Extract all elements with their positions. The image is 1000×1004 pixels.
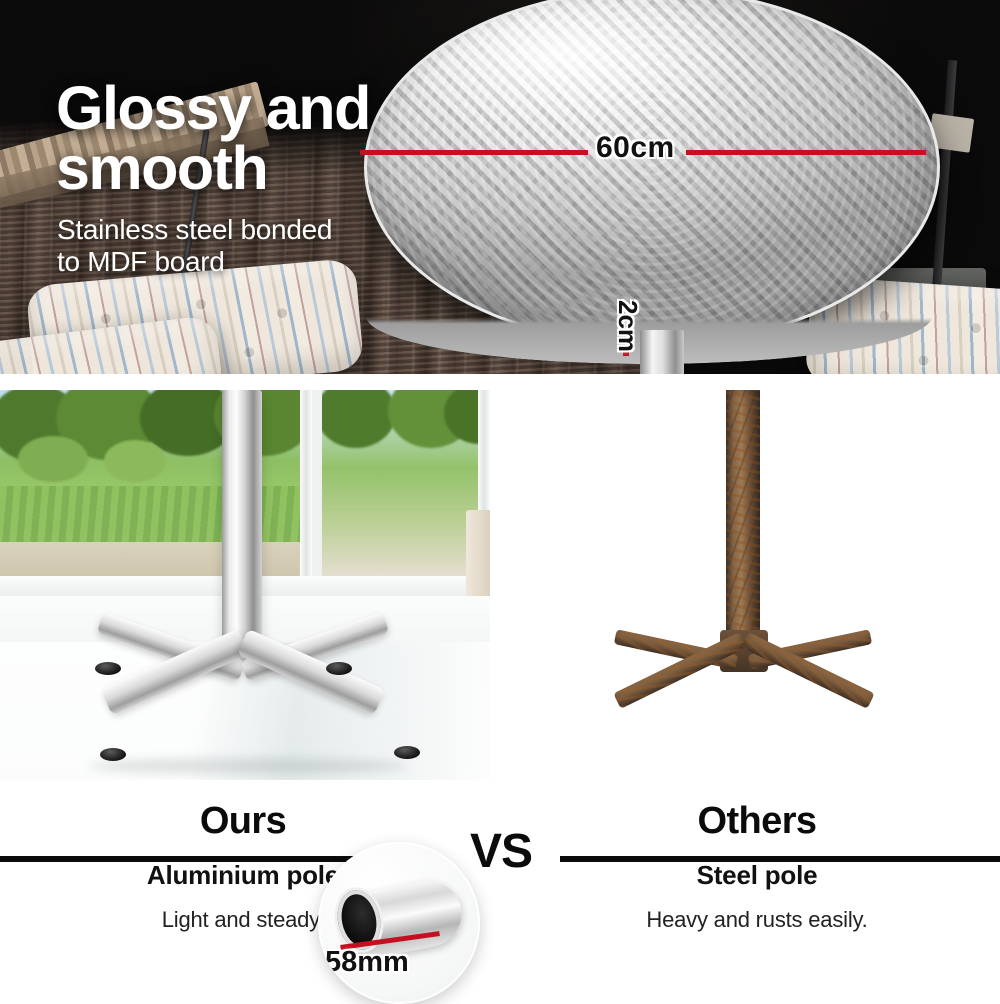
hero-section: 60cm 2cm Glossy and smooth Stainless ste… [0, 0, 1000, 374]
base-foot-front-left [100, 748, 126, 761]
tube-cross-section-inset: 58mm [318, 842, 480, 1004]
base-shadow [88, 758, 408, 774]
column-title-ours: Ours [28, 786, 458, 840]
column-note-others: Heavy and rusts easily. [542, 891, 972, 933]
aluminium-pole [222, 390, 262, 658]
ours-vs-others-section: VS Ours Aluminium pole Light and steady.… [0, 786, 1000, 1000]
diameter-dimension-line-right [686, 150, 926, 155]
aluminium-base-photo [0, 390, 490, 780]
window-mullion-left [300, 390, 312, 588]
hero-headline: Glossy and smooth [56, 79, 370, 199]
column-subtitle-others: Steel pole [542, 840, 972, 891]
infographic-page: 60cm 2cm Glossy and smooth Stainless ste… [0, 0, 1000, 1000]
hero-subcopy: Stainless steel bonded to MDF board [57, 214, 332, 279]
thickness-label: 2cm [612, 300, 643, 352]
comparison-photos-section: 58mm [0, 390, 1000, 780]
tube-diameter-label: 58mm [325, 946, 409, 979]
rusty-steel-base-photo [498, 390, 1000, 780]
base-foot-back-left [95, 662, 121, 675]
diameter-dimension-line-left [360, 150, 588, 155]
diameter-label: 60cm [596, 131, 675, 165]
column-title-others: Others [542, 786, 972, 840]
base-foot-front-right [394, 746, 420, 759]
window-pane-right [322, 390, 490, 576]
vs-label: VS [470, 824, 530, 879]
base-foot-back-right [326, 662, 352, 675]
curtain [466, 510, 490, 596]
steel-pole [726, 390, 760, 642]
comparison-column-others: Others Steel pole Heavy and rusts easily… [542, 786, 972, 933]
table-pole-upper [640, 330, 684, 374]
